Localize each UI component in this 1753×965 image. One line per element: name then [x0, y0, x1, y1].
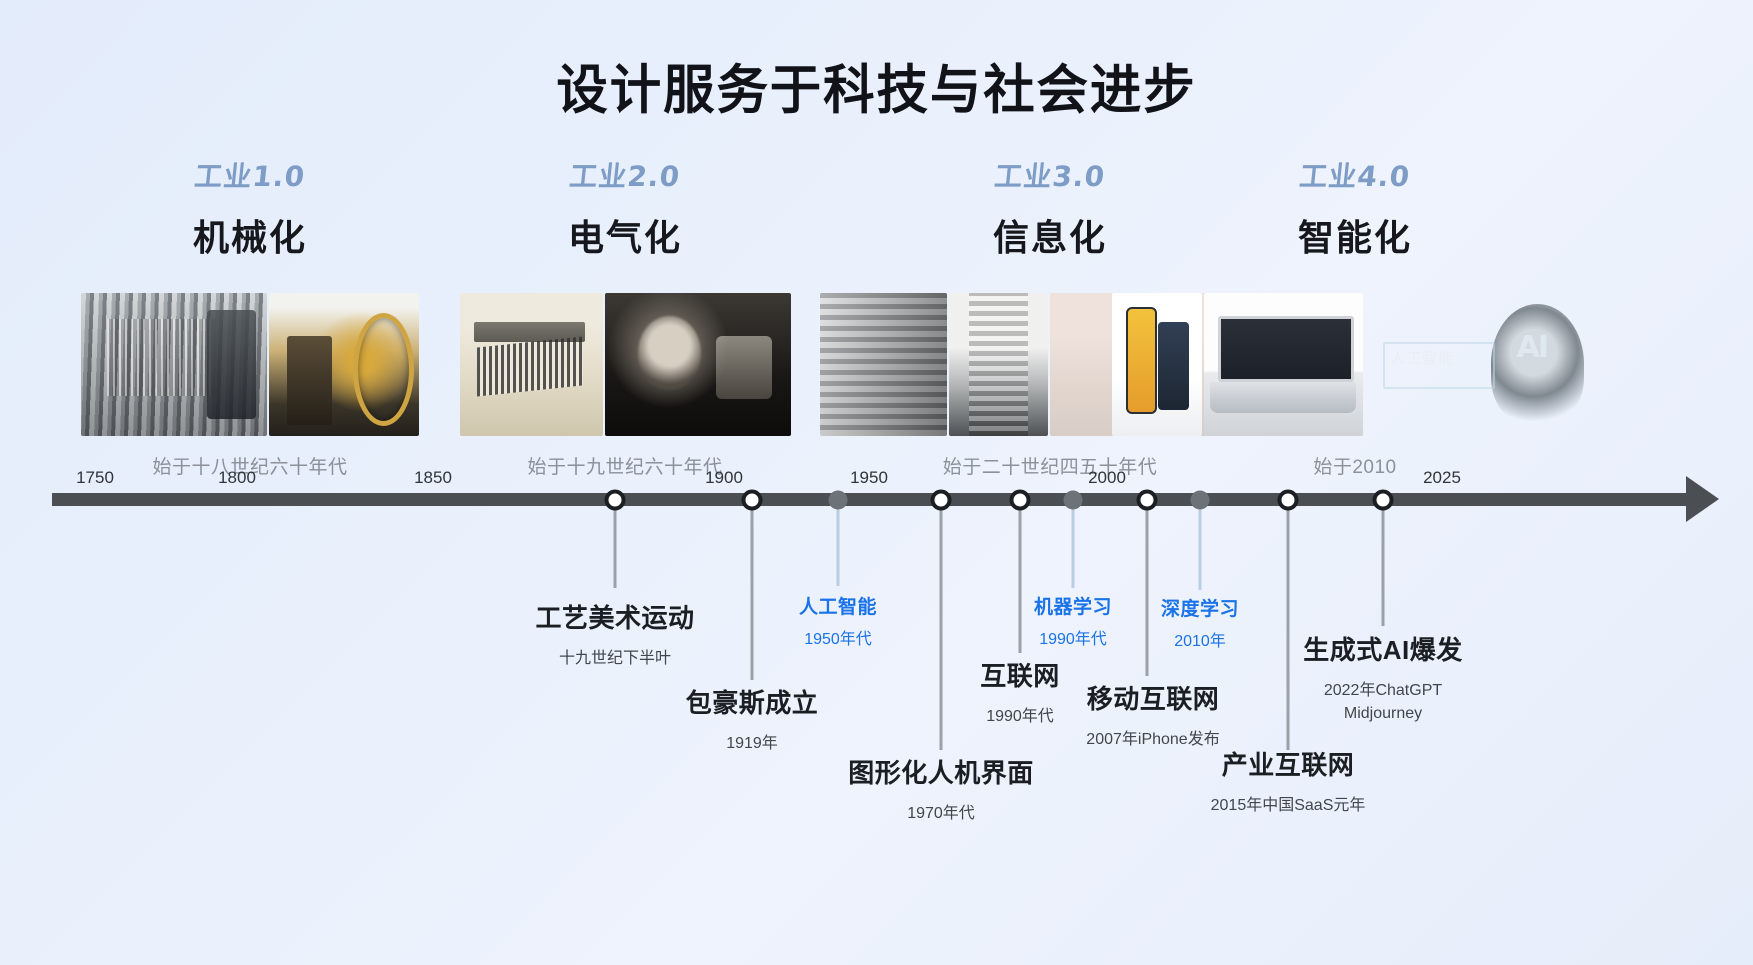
timeline-infographic: 设计服务于科技与社会进步 工业1.0 机械化 始于十八世纪六十年代 工业2.0 …	[0, 0, 1753, 965]
axis-year-tick: 2025	[1423, 468, 1461, 488]
axis-year-tick: 1750	[76, 468, 114, 488]
timeline-marker-artificial-intelligence[interactable]	[829, 491, 848, 510]
event-subtitle: 十九世纪下半叶	[535, 647, 694, 670]
era-caption: 始于2010	[1110, 452, 1600, 479]
ai-glyph-icon: AI	[1517, 330, 1547, 365]
ai-image-label: 人工智能	[1390, 347, 1454, 368]
timeline-marker-generative-ai-boom[interactable]	[1373, 490, 1394, 511]
axis-year-tick: 1850	[414, 468, 452, 488]
leader-line-mobile-internet	[1146, 508, 1149, 676]
timeline-event-arts-and-crafts[interactable]: 工艺美术运动十九世纪下半叶	[535, 598, 694, 670]
era-image-group	[75, 293, 425, 436]
timeline-marker-deep-learning[interactable]	[1191, 491, 1210, 510]
timeline-marker-machine-learning[interactable]	[1064, 491, 1083, 510]
ai-robot-photo: 人工智能 AI	[1365, 293, 1599, 436]
leader-line-arts-and-crafts	[614, 508, 617, 588]
timeline-event-graphical-user-interface[interactable]: 图形化人机界面1970年代	[848, 753, 1034, 825]
era-block-industry-2: 工业2.0 电气化 始于十九世纪六十年代	[455, 155, 795, 479]
event-title: 包豪斯成立	[686, 683, 819, 720]
leader-line-machine-learning	[1072, 508, 1075, 588]
timeline-marker-bauhaus-founded[interactable]	[742, 490, 763, 511]
leader-line-bauhaus-founded	[751, 508, 754, 680]
era-number-label: 工业2.0	[453, 155, 797, 195]
event-subtitle: 2007年iPhone发布	[1086, 728, 1219, 751]
mainframe-computer-photo	[820, 293, 947, 436]
timeline-event-mobile-internet[interactable]: 移动互联网2007年iPhone发布	[1086, 679, 1219, 751]
event-subtitle: 2022年ChatGPTMidjourney	[1303, 679, 1463, 725]
timeline-axis	[52, 493, 1691, 506]
axis-year-tick: 1800	[218, 468, 256, 488]
event-title: 深度学习	[1161, 594, 1239, 621]
era-number-label: 工业4.0	[1108, 155, 1602, 195]
leader-line-industrial-internet	[1287, 508, 1290, 750]
page-title: 设计服务于科技与社会进步	[26, 48, 1726, 124]
leader-line-deep-learning	[1199, 508, 1202, 590]
era-name-label: 机械化	[75, 209, 425, 261]
event-subtitle: 1990年代	[1034, 628, 1112, 651]
era-caption: 始于十九世纪六十年代	[455, 452, 795, 479]
era-image-group: 人工智能 AI	[1110, 293, 1600, 436]
remington-typewriter-illustration	[460, 293, 603, 436]
event-subtitle: 2015年中国SaaS元年	[1211, 794, 1366, 817]
timeline-marker-graphical-user-interface[interactable]	[931, 490, 952, 511]
timeline-event-deep-learning[interactable]: 深度学习2010年	[1161, 594, 1239, 653]
era-name-label: 智能化	[1110, 209, 1600, 261]
event-subtitle: 1970年代	[848, 802, 1034, 825]
event-title: 生成式AI爆发	[1303, 630, 1463, 667]
event-title: 机器学习	[1034, 592, 1112, 619]
macbook-photo	[1204, 293, 1363, 436]
event-title: 移动互联网	[1086, 679, 1219, 716]
event-title: 互联网	[980, 656, 1060, 693]
axis-year-tick: 1900	[705, 468, 743, 488]
event-title: 产业互联网	[1211, 745, 1366, 782]
timeline-event-machine-learning[interactable]: 机器学习1990年代	[1034, 592, 1112, 651]
axis-year-tick: 2000	[1088, 468, 1126, 488]
event-title: 图形化人机界面	[848, 753, 1034, 790]
event-subtitle: 1990年代	[980, 705, 1060, 728]
era-number-label: 工业1.0	[73, 155, 427, 195]
era-name-label: 电气化	[455, 209, 795, 261]
steam-engine-photo	[269, 293, 419, 436]
leader-line-artificial-intelligence	[837, 508, 840, 586]
leader-line-generative-ai-boom	[1382, 508, 1385, 626]
spinning-loom-photo	[81, 293, 267, 436]
server-corridor-photo	[949, 293, 1048, 436]
event-title: 人工智能	[799, 592, 877, 619]
timeline-marker-arts-and-crafts[interactable]	[605, 490, 626, 511]
timeline-marker-industrial-internet[interactable]	[1278, 490, 1299, 511]
event-subtitle: 2010年	[1161, 630, 1239, 653]
timeline-event-industrial-internet[interactable]: 产业互联网2015年中国SaaS元年	[1211, 745, 1366, 817]
timeline-event-artificial-intelligence[interactable]: 人工智能1950年代	[799, 592, 877, 651]
axis-year-tick: 1950	[850, 468, 888, 488]
leader-line-internet	[1019, 508, 1022, 653]
event-title: 工艺美术运动	[535, 598, 694, 635]
alexander-graham-bell-photo	[605, 293, 791, 436]
era-block-industry-1: 工业1.0 机械化 始于十八世纪六十年代	[75, 155, 425, 479]
timeline-marker-mobile-internet[interactable]	[1137, 490, 1158, 511]
timeline-event-generative-ai-boom[interactable]: 生成式AI爆发2022年ChatGPTMidjourney	[1303, 630, 1463, 725]
timeline-marker-internet[interactable]	[1010, 490, 1031, 511]
event-subtitle: 1919年	[686, 732, 819, 755]
event-subtitle: 1950年代	[799, 628, 877, 651]
axis-arrow-icon	[1686, 476, 1719, 522]
leader-line-graphical-user-interface	[940, 508, 943, 750]
timeline-event-bauhaus-founded[interactable]: 包豪斯成立1919年	[686, 683, 819, 755]
smartphone-tablet-photo	[1112, 293, 1202, 436]
timeline-event-internet[interactable]: 互联网1990年代	[980, 656, 1060, 728]
era-image-group	[455, 293, 795, 436]
era-block-industry-4: 工业4.0 智能化 人工智能 AI 始于2010	[1110, 155, 1600, 479]
